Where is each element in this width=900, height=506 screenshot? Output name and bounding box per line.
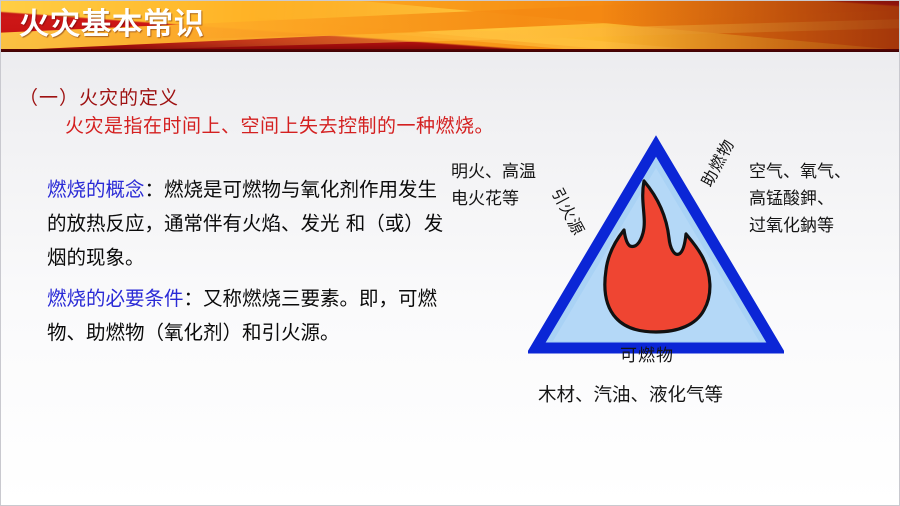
example-fuels: 木材、汽油、液化气等 (538, 382, 723, 409)
triangle-label-fuel: 可燃物 (620, 341, 674, 366)
fire-triangle-svg (528, 134, 784, 362)
paragraph-combustion-concept: 燃烧的概念：燃烧是可燃物与氧化剂作用发生的放热反应，通常伴有火焰、发光 和（或）… (47, 173, 447, 275)
banner-underline (1, 49, 900, 52)
paragraph-combustion-conditions: 燃烧的必要条件：又称燃烧三要素。即，可燃物、助燃物（氧化剂）和引火源。 (47, 282, 457, 350)
section-subtitle: 火灾是指在时间上、空间上失去控制的一种燃烧。 (65, 111, 494, 138)
page-title: 火灾基本常识 (19, 4, 205, 46)
keyword-combustion-concept: 燃烧的概念 (47, 178, 145, 201)
example-ignition-sources: 明火、高温 电火花等 (451, 159, 536, 213)
section-title: （一）火灾的定义 (19, 83, 179, 110)
fire-triangle-diagram (528, 134, 784, 362)
keyword-combustion-conditions: 燃烧的必要条件 (47, 287, 184, 310)
banner-shade (601, 1, 900, 49)
slide-canvas: 火灾基本常识 （一）火灾的定义 火灾是指在时间上、空间上失去控制的一种燃烧。 燃… (0, 0, 900, 506)
